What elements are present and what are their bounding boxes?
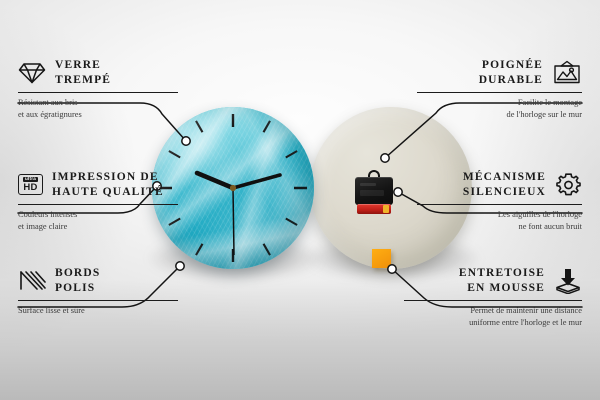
- callout-rule: [417, 204, 582, 205]
- gear-icon: [555, 172, 582, 198]
- callout-title: VERRE TREMPÉ: [55, 58, 111, 87]
- callout-title: BORDS POLIS: [55, 266, 100, 295]
- callout-bords-polis[interactable]: BORDS POLIS Surface lisse et sûre: [18, 266, 178, 317]
- callout-description: Les aiguilles de l'horloge ne font aucun…: [417, 209, 582, 233]
- callout-poignee-durable[interactable]: POIGNÉE DURABLE Facilite le montage de l…: [417, 58, 582, 121]
- callout-title: ENTRETOISE EN MOUSSE: [459, 266, 545, 295]
- callout-description: Permet de maintenir une distance uniform…: [404, 305, 582, 329]
- infographic-canvas: VERRE TREMPÉ Résistant aux bris et aux é…: [0, 0, 600, 400]
- picture-frame-hanger-icon: [552, 60, 582, 85]
- callout-rule: [417, 92, 582, 93]
- callout-description: Facilite le montage de l'horloge sur le …: [417, 97, 582, 121]
- hour-hand: [197, 173, 233, 188]
- callout-verre-trempe[interactable]: VERRE TREMPÉ Résistant aux bris et aux é…: [18, 58, 178, 121]
- callout-rule: [18, 92, 178, 93]
- callout-mecanisme-silencieux[interactable]: MÉCANISME SILENCIEUX Les aiguilles de l'…: [417, 170, 582, 233]
- callout-title: IMPRESSION DE HAUTE QUALITÉ: [52, 170, 164, 199]
- second-hand: [233, 188, 234, 255]
- foam-spacer[interactable]: [372, 249, 391, 268]
- battery: [357, 204, 391, 214]
- minute-hand: [233, 175, 280, 188]
- callout-rule: [18, 204, 178, 205]
- ultra-hd-icon-main-label: HD: [23, 183, 37, 193]
- ultra-hd-icon: ultra HD: [18, 174, 43, 195]
- callout-title: POIGNÉE DURABLE: [479, 58, 543, 87]
- callout-rule: [18, 300, 178, 301]
- callout-description: Surface lisse et sûre: [18, 305, 178, 317]
- diamond-icon: [18, 61, 46, 85]
- callout-impression-hd[interactable]: ultra HD IMPRESSION DE HAUTE QUALITÉ Cou…: [18, 170, 178, 233]
- callout-description: Couleurs intenses et image claire: [18, 209, 178, 233]
- callout-entretoise-mousse[interactable]: ENTRETOISE EN MOUSSE Permet de maintenir…: [404, 266, 582, 329]
- callout-header: BORDS POLIS: [18, 266, 178, 295]
- polished-edges-icon: [18, 269, 46, 293]
- movement-body: [355, 177, 393, 205]
- callout-description: Résistant aux bris et aux égratignures: [18, 97, 178, 121]
- callout-header: VERRE TREMPÉ: [18, 58, 178, 87]
- callout-header: MÉCANISME SILENCIEUX: [417, 170, 582, 199]
- quartz-movement[interactable]: [355, 175, 393, 217]
- foam-spacer-arrow-icon: [554, 268, 582, 294]
- hands-pivot: [230, 185, 236, 191]
- callout-header: POIGNÉE DURABLE: [417, 58, 582, 87]
- callout-header: ENTRETOISE EN MOUSSE: [404, 266, 582, 295]
- callout-title: MÉCANISME SILENCIEUX: [463, 170, 546, 199]
- callout-header: ultra HD IMPRESSION DE HAUTE QUALITÉ: [18, 170, 178, 199]
- callout-rule: [404, 300, 582, 301]
